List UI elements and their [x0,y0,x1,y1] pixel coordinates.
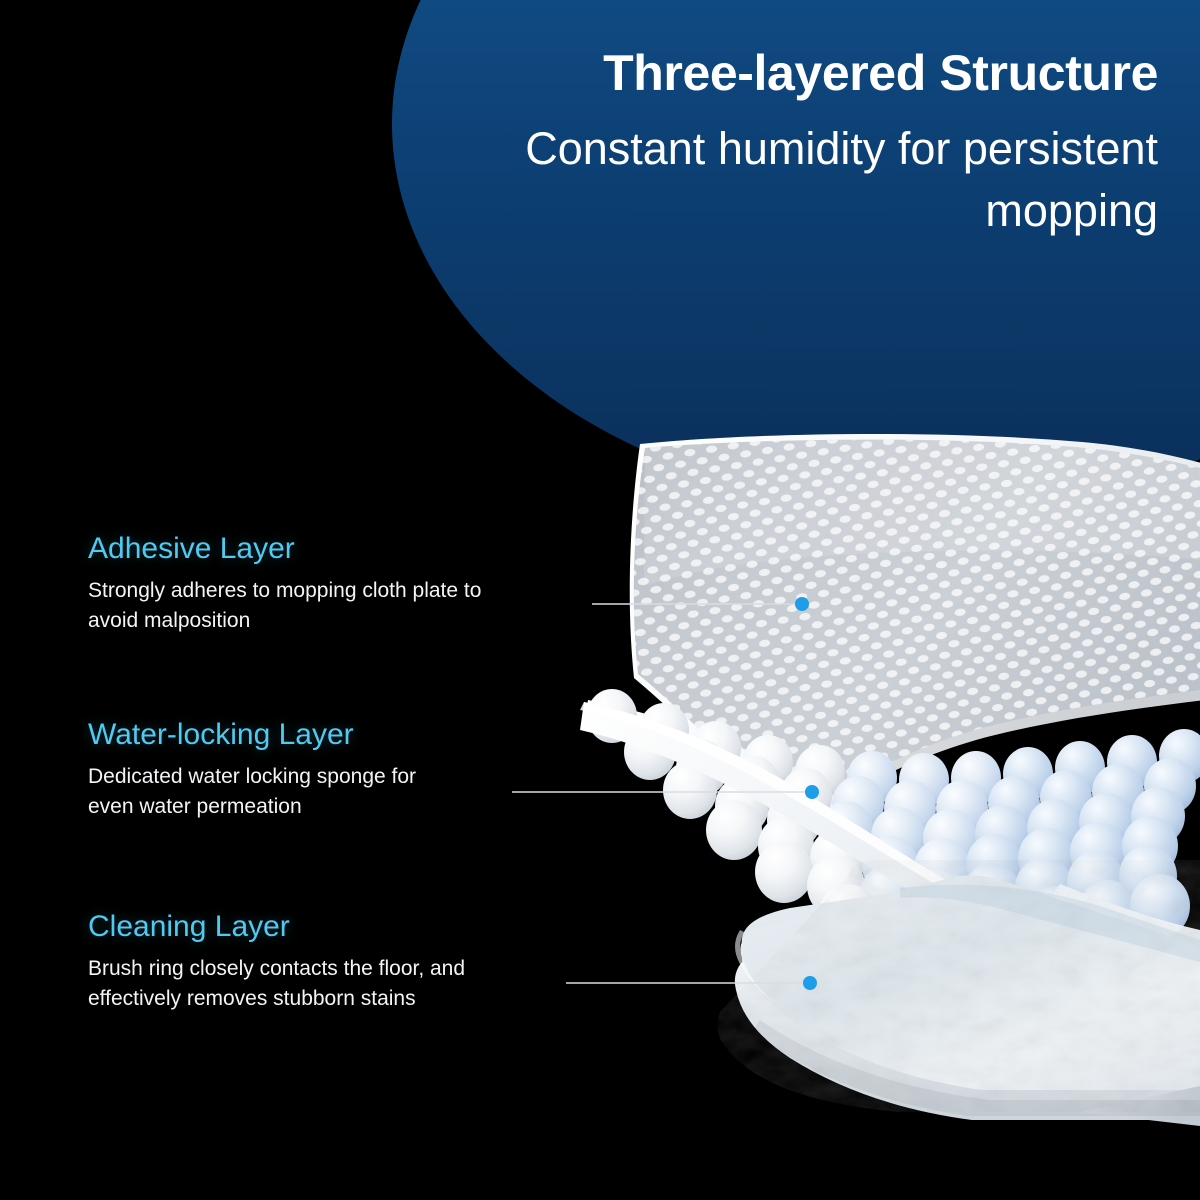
callout-desc-cleaning: Brush ring closely contacts the floor, a… [88,954,465,1014]
callout-water-locking-layer: Water-locking Layer Dedicated water lock… [88,718,416,822]
callout-title-cleaning: Cleaning Layer [88,910,465,943]
callout-desc-water-locking: Dedicated water locking sponge for even … [88,762,416,822]
callout-adhesive-layer: Adhesive Layer Strongly adheres to moppi… [88,532,481,636]
water-locking-layer-dot[interactable] [805,785,819,799]
callout-cleaning-layer: Cleaning Layer Brush ring closely contac… [88,910,465,1014]
callout-desc-adhesive: Strongly adheres to mopping cloth plate … [88,576,481,636]
infographic-root: Three-layered Structure Constant humidit… [0,0,1200,1200]
adhesive-layer-dot[interactable] [795,597,809,611]
cleaning-layer-dot[interactable] [803,976,817,990]
callout-title-adhesive: Adhesive Layer [88,532,481,565]
callout-title-water-locking: Water-locking Layer [88,718,416,751]
